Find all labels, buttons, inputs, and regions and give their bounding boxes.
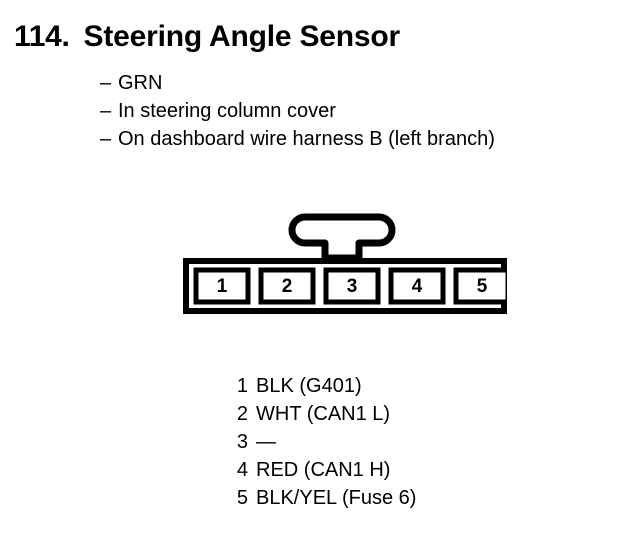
- dash-bullet-icon: –: [100, 97, 118, 125]
- pinout-row: 1 BLK (G401): [228, 372, 416, 400]
- pinout-row: 4 RED (CAN1 H): [228, 456, 416, 484]
- pinout-row: 2 WHT (CAN1 L): [228, 400, 416, 428]
- pin-number: 2: [228, 400, 248, 428]
- pinout-legend: 1 BLK (G401) 2 WHT (CAN1 L) 3 — 4 RED (C…: [228, 372, 416, 512]
- page-title: 114. Steering Angle Sensor: [14, 20, 400, 54]
- item-number: 114.: [14, 20, 70, 54]
- cavity-number-1: 1: [217, 276, 228, 297]
- list-item: – GRN: [100, 69, 495, 97]
- pinout-row: 3 —: [228, 428, 416, 456]
- dash-bullet-icon: –: [100, 69, 118, 97]
- pin-number: 1: [228, 372, 248, 400]
- list-item: – On dashboard wire harness B (left bran…: [100, 125, 495, 153]
- pinout-row: 5 BLK/YEL (Fuse 6): [228, 484, 416, 512]
- pin-number: 3: [228, 428, 248, 456]
- pin-label: —: [256, 428, 276, 456]
- note-text: GRN: [118, 69, 162, 97]
- pin-label: RED (CAN1 H): [256, 456, 390, 484]
- pin-label: WHT (CAN1 L): [256, 400, 390, 428]
- pin-number: 4: [228, 456, 248, 484]
- component-name: Steering Angle Sensor: [84, 20, 400, 54]
- diagram-page: 114. Steering Angle Sensor – GRN – In st…: [0, 0, 640, 548]
- dash-bullet-icon: –: [100, 125, 118, 153]
- connector-svg: 1 2 3 4 5: [183, 212, 507, 314]
- cavity-number-2: 2: [282, 276, 293, 297]
- connector-diagram: 1 2 3 4 5: [183, 212, 507, 314]
- cavity-number-5: 5: [477, 276, 488, 297]
- pin-label: BLK (G401): [256, 372, 362, 400]
- component-notes-list: – GRN – In steering column cover – On da…: [100, 69, 495, 153]
- note-text: On dashboard wire harness B (left branch…: [118, 125, 495, 153]
- list-item: – In steering column cover: [100, 97, 495, 125]
- cavity-number-4: 4: [412, 276, 423, 297]
- pin-number: 5: [228, 484, 248, 512]
- pin-label: BLK/YEL (Fuse 6): [256, 484, 416, 512]
- locking-tab-icon: [292, 217, 392, 258]
- cavity-number-3: 3: [347, 276, 358, 297]
- note-text: In steering column cover: [118, 97, 336, 125]
